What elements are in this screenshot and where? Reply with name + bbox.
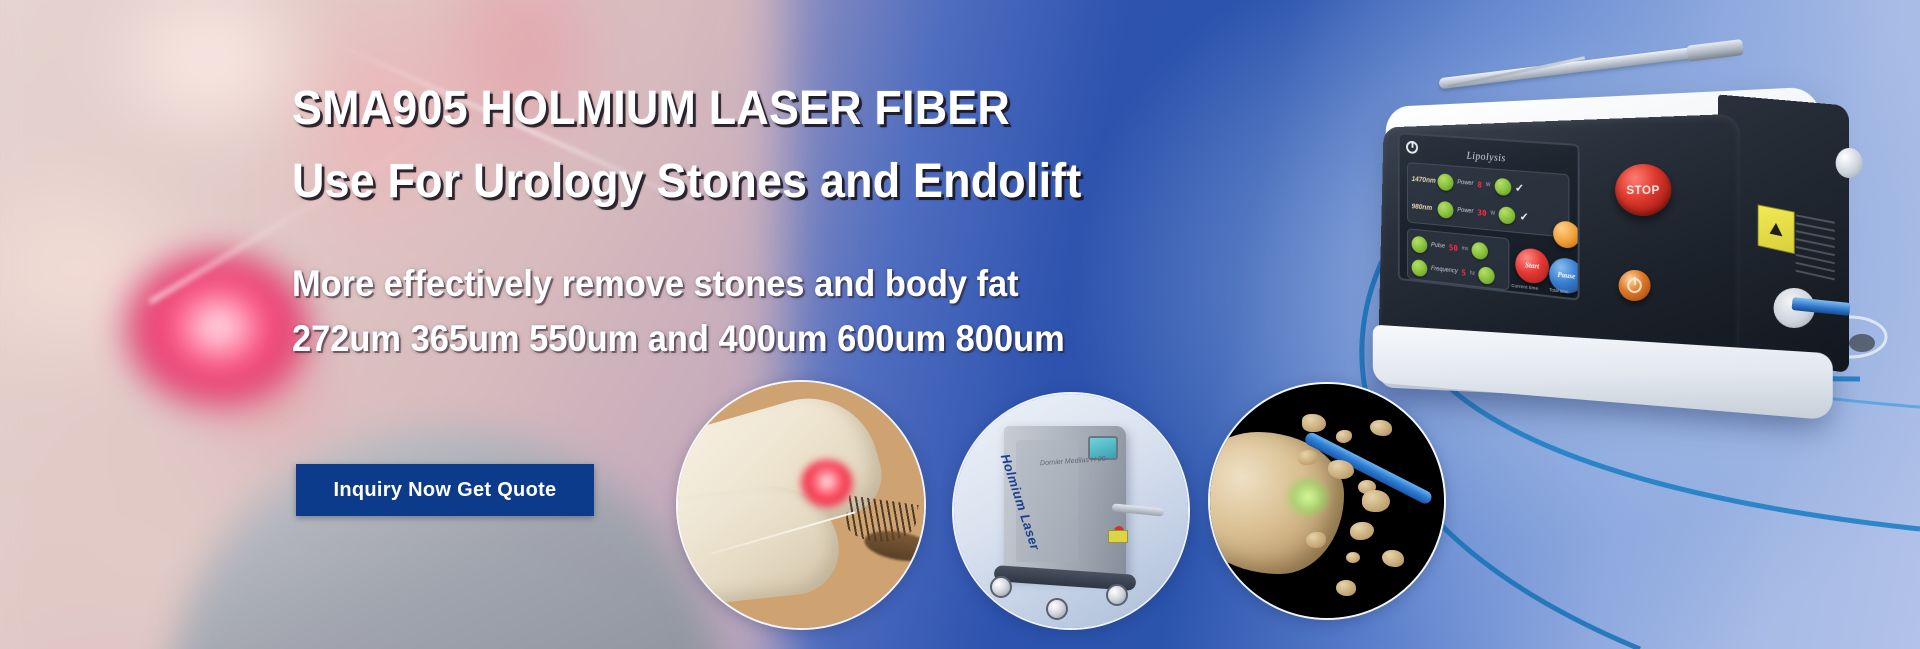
stone-fragment xyxy=(1298,450,1318,465)
headline-line-2: Use For Urology Stones and Endolift xyxy=(292,145,1227,218)
stone-fragmentation-image xyxy=(1210,384,1444,618)
subheadline-line-2: 272um 365um 550um and 400um 600um 800um xyxy=(292,311,1222,366)
stone-fragment xyxy=(1362,490,1390,512)
stone-fragment xyxy=(1382,550,1404,567)
stone-fragment xyxy=(1346,552,1360,563)
page-title: SMA905 HOLMIUM LASER FIBER Use For Urolo… xyxy=(292,72,1292,218)
cart-warning-label xyxy=(1108,530,1128,543)
subheadline-line-1: More effectively remove stones and body … xyxy=(292,256,1222,311)
holmium-laser-image: Dornier Medilas H 20 Holmium Laser xyxy=(954,394,1188,628)
headline-line-1: SMA905 HOLMIUM LASER FIBER xyxy=(292,72,1227,145)
stone-fragment xyxy=(1350,522,1374,540)
inquiry-now-get-quote-button[interactable]: Inquiry Now Get Quote xyxy=(296,464,594,516)
thumbnail-kidney-stone-fragmentation[interactable] xyxy=(1208,382,1446,620)
stone-fragment xyxy=(1328,460,1354,479)
stone-fragment xyxy=(1306,532,1326,548)
stone-fragment xyxy=(1336,430,1352,443)
stone-fragment xyxy=(1302,414,1326,432)
closed-eye xyxy=(862,526,926,566)
stone-fragment xyxy=(1336,580,1356,596)
laser-cart-body: Dornier Medilas H 20 Holmium Laser xyxy=(1004,426,1126,578)
cart-handle xyxy=(1112,503,1165,516)
thumbnail-endolift-eyelid-procedure[interactable] xyxy=(676,380,926,630)
banner-content: SMA905 HOLMIUM LASER FIBER Use For Urolo… xyxy=(0,0,1920,649)
cart-wheel-3 xyxy=(1106,584,1128,606)
cart-wheel-2 xyxy=(1046,598,1068,620)
stone-fragment xyxy=(1370,420,1392,436)
cart-wheel-1 xyxy=(990,576,1012,598)
laser-tip-flash xyxy=(1282,478,1330,516)
thumbnail-holmium-laser-machine[interactable]: Dornier Medilas H 20 Holmium Laser xyxy=(952,392,1190,630)
product-banner: Lipolysis 1470nm Power 8 W ✓ 980nm Power… xyxy=(0,0,1920,649)
endolift-image xyxy=(678,382,924,628)
red-laser-spot xyxy=(800,460,854,508)
subheadline: More effectively remove stones and body … xyxy=(292,256,1292,366)
